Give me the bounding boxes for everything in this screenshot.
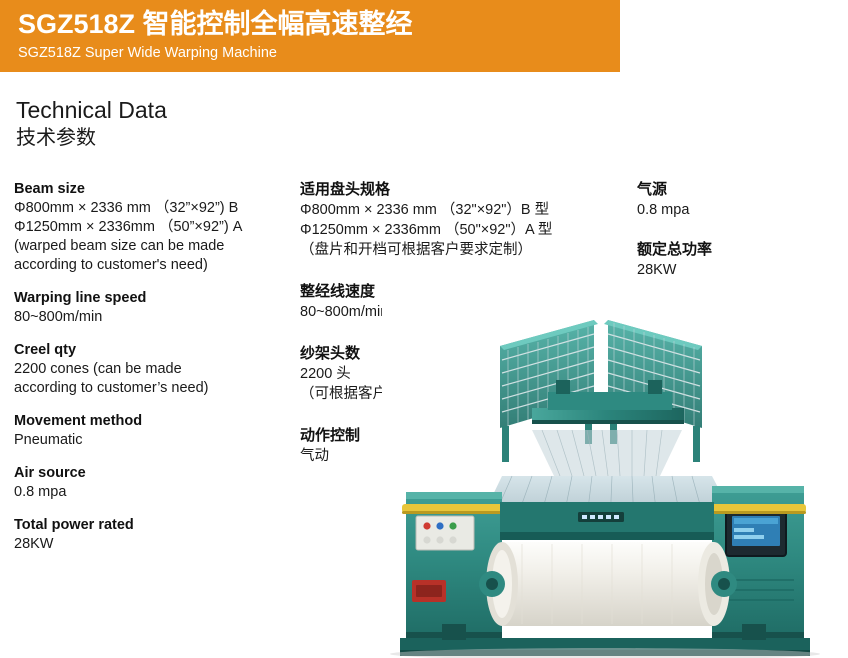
spec-value: Pneumatic — [14, 431, 294, 450]
spec-column-english: Beam size Φ800mm × 2336 mm （32”×92”) B Φ… — [14, 180, 294, 554]
machine-photo — [382, 280, 848, 658]
spec-label: 适用盘头规格 — [300, 180, 630, 200]
spec-block: Total power rated 28KW — [14, 516, 294, 554]
spec-value: 80~800m/min — [14, 308, 294, 327]
section-title-en: Technical Data — [16, 96, 167, 124]
spec-block: Warping line speed 80~800m/min — [14, 289, 294, 327]
spec-block: Beam size Φ800mm × 2336 mm （32”×92”) B Φ… — [14, 180, 294, 275]
spec-value: 2200 cones (can be made according to cus… — [14, 360, 294, 398]
spec-block: Air source 0.8 mpa — [14, 464, 294, 502]
spec-block: Movement method Pneumatic — [14, 412, 294, 450]
spec-label: 额定总功率 — [637, 240, 837, 260]
spec-block: 额定总功率 28KW — [637, 240, 837, 280]
spec-block: Creel qty 2200 cones (can be made accord… — [14, 341, 294, 398]
spec-label: Creel qty — [14, 341, 294, 360]
spec-value: 0.8 mpa — [637, 200, 837, 220]
spec-label: Total power rated — [14, 516, 294, 535]
spec-label: Beam size — [14, 180, 294, 199]
page-subtitle: SGZ518Z Super Wide Warping Machine — [18, 43, 620, 63]
spec-label: Movement method — [14, 412, 294, 431]
page-title: SGZ518Z 智能控制全幅高速整经 — [18, 8, 620, 40]
spec-value: 28KW — [637, 260, 837, 280]
machine-illustration — [382, 280, 848, 658]
spec-label: Air source — [14, 464, 294, 483]
section-title-cn: 技术参数 — [16, 125, 167, 152]
spec-label: 气源 — [637, 180, 837, 200]
spec-block: 适用盘头规格 Φ800mm × 2336 mm （32"×92"）B 型 Φ12… — [300, 180, 630, 260]
warp-beam-roll — [486, 542, 730, 626]
spec-block: 气源 0.8 mpa — [637, 180, 837, 220]
page-root: SGZ518Z 智能控制全幅高速整经 SGZ518Z Super Wide Wa… — [0, 0, 848, 658]
spec-value: 28KW — [14, 535, 294, 554]
section-heading: Technical Data 技术参数 — [16, 96, 167, 152]
spec-value: 0.8 mpa — [14, 483, 294, 502]
spec-value: Φ800mm × 2336 mm （32”×92”) B Φ1250mm × 2… — [14, 199, 294, 275]
header-banner: SGZ518Z 智能控制全幅高速整经 SGZ518Z Super Wide Wa… — [0, 0, 620, 72]
spec-value: Φ800mm × 2336 mm （32"×92"）B 型 Φ1250mm × … — [300, 200, 630, 260]
spec-label: Warping line speed — [14, 289, 294, 308]
